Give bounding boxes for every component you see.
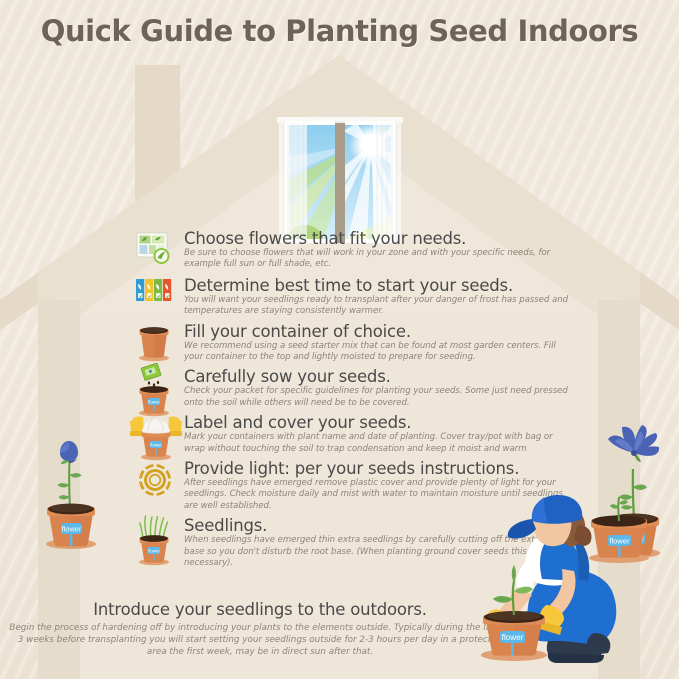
- seedlings-pot-icon: flower: [134, 510, 178, 554]
- step-item: flower Carefully sow your seeds. Check y…: [134, 367, 580, 409]
- svg-text:flower: flower: [148, 400, 160, 405]
- footer-block: Introduce your seedlings to the outdoors…: [0, 600, 520, 659]
- step-heading: Carefully sow your seeds.: [184, 367, 580, 386]
- step-heading: Label and cover your seeds.: [184, 413, 580, 432]
- page-title: Quick Guide to Planting Seed Indoors: [0, 14, 679, 48]
- step-heading: Fill your container of choice.: [184, 322, 580, 341]
- step-description: We recommend using a seed starter mix th…: [184, 341, 576, 364]
- step-description: You will want your seedlings ready to tr…: [184, 295, 576, 318]
- covered-pot-gloves-icon: flower: [128, 413, 184, 457]
- seed-catalog-icon: [134, 229, 178, 273]
- potted-flower-left: flower: [36, 413, 106, 553]
- step-item: Determine best time to start your seeds.…: [134, 276, 580, 318]
- gardener-illustration: flower: [452, 495, 667, 679]
- step-description: Mark your containers with plant name and…: [184, 432, 576, 455]
- infographic-poster: Quick Guide to Planting Seed Indoors: [0, 0, 679, 679]
- step-item: flower Label and cover your seeds. Mark …: [134, 413, 580, 455]
- step-heading: Determine best time to start your seeds.: [184, 276, 580, 295]
- step-heading: Choose flowers that fit your needs.: [184, 229, 580, 248]
- sowing-seeds-icon: flower: [134, 363, 178, 407]
- step-item: Fill your container of choice. We recomm…: [134, 322, 580, 364]
- svg-text:flower: flower: [150, 443, 162, 448]
- svg-text:flower: flower: [609, 536, 630, 545]
- step-heading: Provide light: per your seeds instructio…: [184, 459, 580, 478]
- seed-packets-icon: [134, 276, 178, 320]
- svg-text:flower: flower: [502, 633, 524, 642]
- step-description: Be sure to choose flowers that will work…: [184, 248, 576, 271]
- step-description: Check your packet for specific guideline…: [184, 386, 576, 409]
- step-item: Choose flowers that fit your needs. Be s…: [134, 229, 580, 271]
- footer-heading: Introduce your seedlings to the outdoors…: [0, 600, 520, 619]
- svg-text:flower: flower: [148, 549, 160, 554]
- sun-light-icon: [134, 461, 178, 505]
- svg-text:flower: flower: [62, 524, 82, 533]
- empty-pot-icon: [134, 322, 178, 366]
- footer-description: Begin the process of hardening off by in…: [0, 622, 520, 659]
- gardener-background-pot: flower: [589, 497, 649, 563]
